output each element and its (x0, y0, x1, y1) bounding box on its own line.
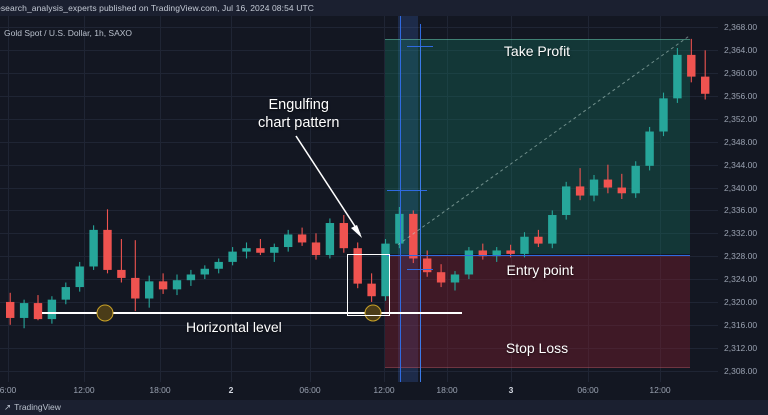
candlestick (89, 225, 97, 270)
candlestick (20, 300, 28, 329)
candlestick (604, 165, 612, 194)
price-axis-label: 2,316.00 (724, 320, 757, 330)
price-axis[interactable]: 2,368.002,364.002,360.002,356.002,352.00… (718, 16, 768, 382)
candlestick (437, 264, 445, 287)
candlestick (242, 242, 250, 258)
price-axis-label: 2,308.00 (724, 366, 757, 376)
price-axis-label: 2,360.00 (724, 68, 757, 78)
candlestick (34, 295, 42, 320)
position-midline (387, 190, 427, 191)
level-marker-circle-left[interactable] (97, 305, 114, 322)
price-axis-label: 2,332.00 (724, 228, 757, 238)
candlestick (326, 218, 334, 258)
annotation-arrow-line (296, 136, 360, 234)
take-profit-label: Take Profit (504, 43, 570, 59)
candlestick (173, 274, 181, 295)
long-position-arrow[interactable] (420, 46, 421, 382)
engulfing-pattern-box[interactable] (347, 254, 390, 316)
price-axis-label: 2,348.00 (724, 137, 757, 147)
entry-line[interactable] (387, 255, 690, 256)
price-axis-label: 2,352.00 (724, 114, 757, 124)
annotation-arrow-head-icon (351, 225, 362, 238)
candlestick (187, 270, 195, 286)
candlestick (645, 127, 653, 170)
candlestick (159, 273, 167, 294)
tradingview-logo: ↗ TradingView (4, 402, 61, 413)
engulfing-annotation-line-2: chart pattern (258, 114, 339, 132)
candlestick (687, 39, 695, 82)
ticker-legend: Gold Spot / U.S. Dollar, 1h, SAXO (4, 28, 132, 38)
price-axis-label: 2,356.00 (724, 91, 757, 101)
candlestick (465, 247, 473, 279)
time-axis[interactable]: 6:0012:0018:00206:0012:0018:00306:0012:0… (0, 382, 768, 400)
candlestick (76, 262, 84, 292)
candlestick (534, 230, 542, 247)
candlestick (618, 174, 626, 199)
time-axis-label: 06:00 (577, 385, 598, 395)
time-axis-label: 3 (509, 385, 514, 395)
attribution-bar: esearch_analysis_experts published on Tr… (0, 0, 768, 16)
price-axis-label: 2,320.00 (724, 297, 757, 307)
candlestick (201, 265, 209, 279)
price-axis-label: 2,344.00 (724, 160, 757, 170)
candlestick (145, 276, 153, 308)
candlestick (312, 233, 320, 259)
candlestick (576, 168, 584, 200)
price-axis-label: 2,368.00 (724, 22, 757, 32)
chart-screenshot: esearch_analysis_experts published on Tr… (0, 0, 768, 415)
candlestick (62, 282, 70, 304)
candlestick (590, 175, 598, 201)
chart-plot-area[interactable]: Take ProfitEntry pointStop LossHorizonta… (0, 16, 718, 382)
attribution-text: esearch_analysis_experts published on Tr… (0, 3, 314, 13)
candlestick (103, 209, 111, 273)
candlestick (479, 244, 487, 260)
engulfing-pattern-annotation: Engulfingchart pattern (258, 96, 339, 132)
candlestick (48, 296, 56, 323)
candlestick (6, 293, 14, 325)
time-axis-label: 12:00 (373, 385, 394, 395)
time-axis-label: 12:00 (649, 385, 670, 395)
candlestick (215, 258, 223, 273)
candlestick (548, 210, 556, 248)
price-axis-label: 2,364.00 (724, 45, 757, 55)
tradingview-brand-label: TradingView (14, 402, 61, 413)
candlestick (228, 247, 236, 265)
candlestick (284, 230, 292, 252)
time-axis-label: 2 (229, 385, 234, 395)
time-axis-label: 12:00 (73, 385, 94, 395)
price-axis-label: 2,312.00 (724, 343, 757, 353)
candlestick (562, 182, 570, 220)
tradingview-mark-icon: ↗ (4, 402, 11, 413)
time-axis-label: 06:00 (299, 385, 320, 395)
candlestick (117, 239, 125, 282)
candlestick (659, 93, 667, 136)
candlestick-series (0, 16, 718, 382)
price-axis-label: 2,324.00 (724, 274, 757, 284)
candlestick (256, 239, 264, 255)
time-axis-label: 6:00 (0, 385, 16, 395)
candlestick (451, 271, 459, 290)
candlestick (270, 244, 278, 262)
price-axis-label: 2,336.00 (724, 205, 757, 215)
footer-bar (0, 400, 768, 415)
position-line-left[interactable] (400, 16, 401, 382)
candlestick (632, 161, 640, 198)
time-axis-label: 18:00 (149, 385, 170, 395)
candlestick (340, 215, 348, 253)
entry-point-label: Entry point (507, 262, 574, 278)
time-axis-label: 18:00 (436, 385, 457, 395)
candlestick (131, 240, 139, 311)
candlestick (701, 50, 709, 99)
candlestick (298, 228, 306, 246)
price-axis-label: 2,328.00 (724, 251, 757, 261)
price-axis-label: 2,340.00 (724, 183, 757, 193)
candlestick (673, 48, 681, 103)
horizontal-level-label: Horizontal level (186, 319, 282, 335)
engulfing-annotation-line-1: Engulfing (258, 96, 339, 114)
stop-loss-label: Stop Loss (506, 340, 568, 356)
